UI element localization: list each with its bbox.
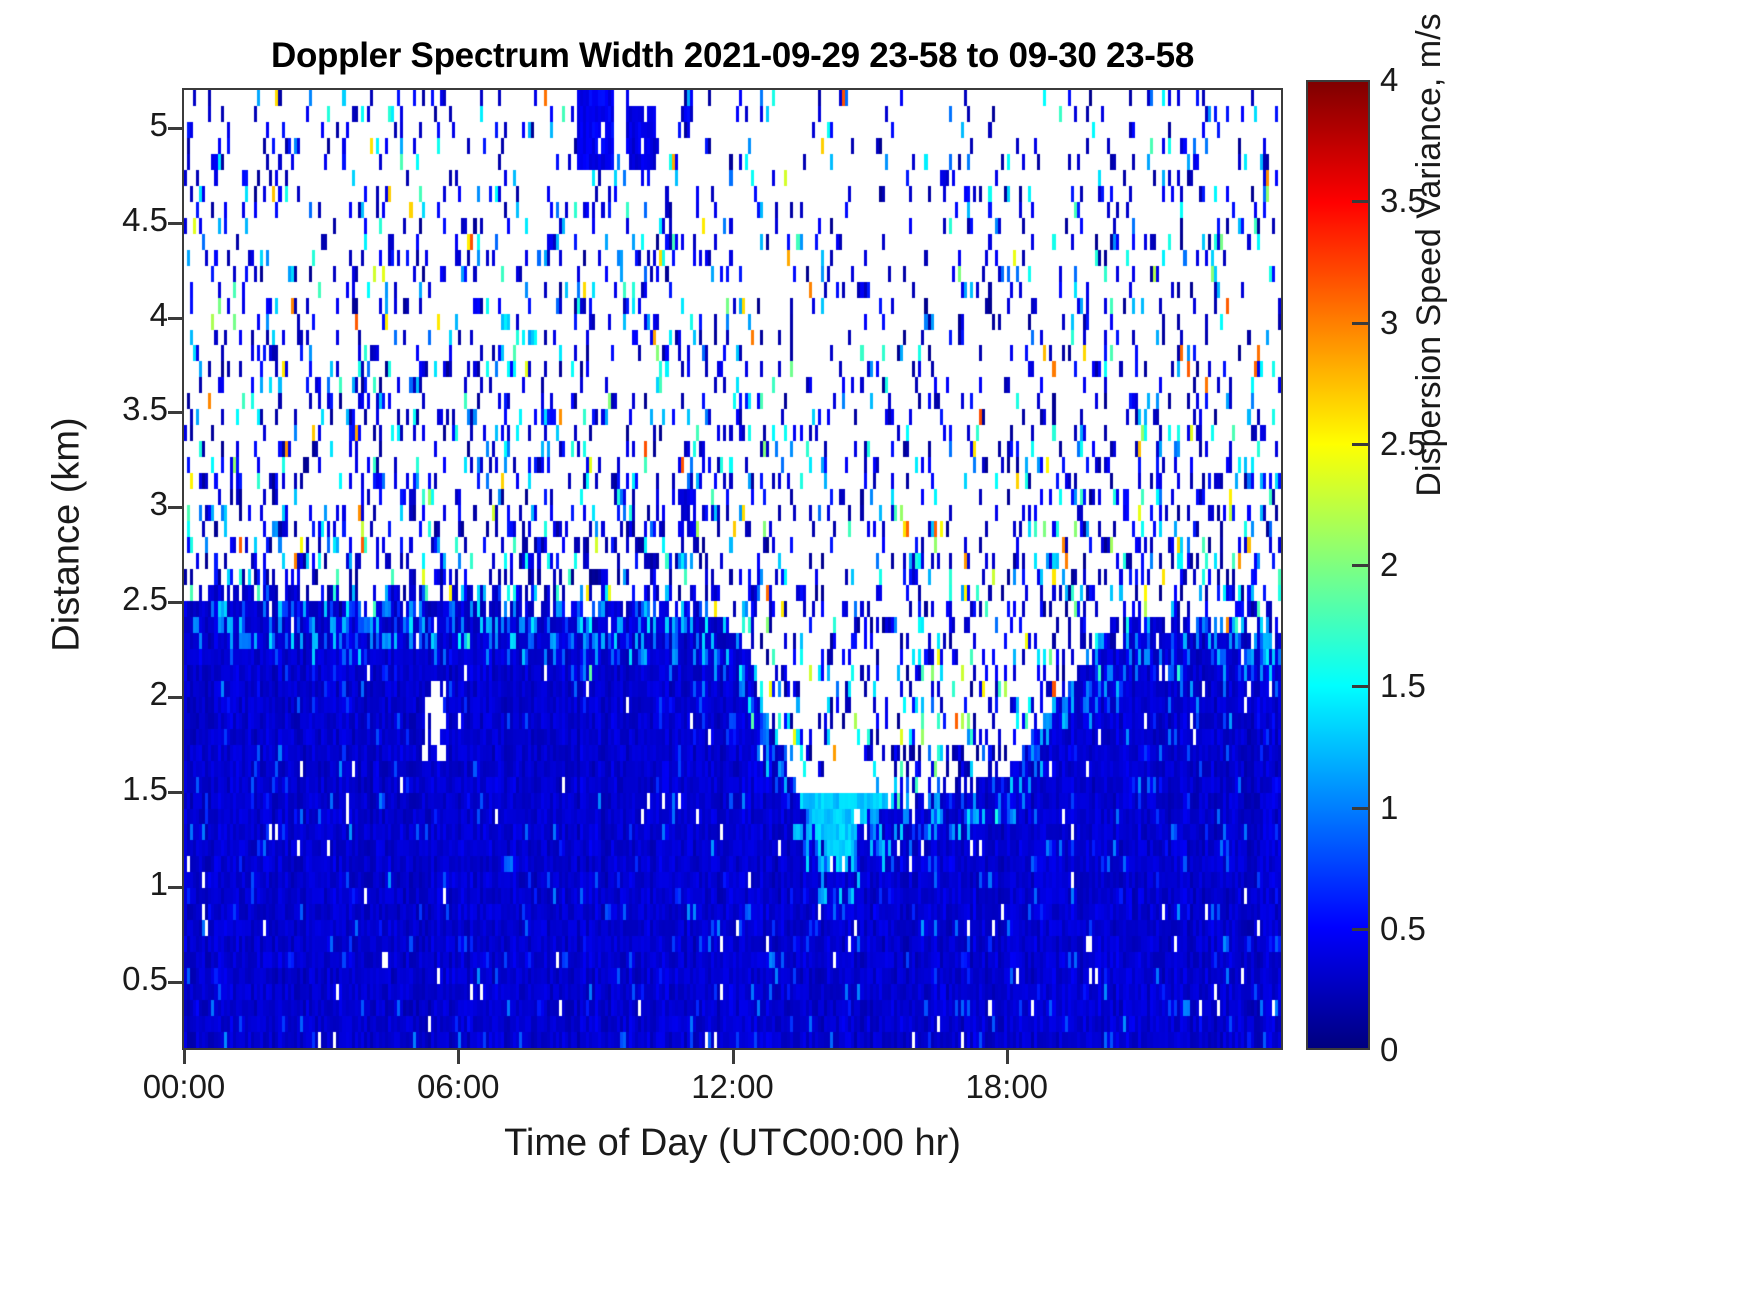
heatmap-plot-area[interactable] (182, 88, 1283, 1050)
colorbar-tick-mark (1352, 685, 1368, 688)
colorbar-title: Dispersion Speed Variance, m/s (1410, 0, 1449, 565)
x-tick-mark (1006, 1050, 1009, 1064)
y-tick-mark (168, 127, 182, 130)
y-tick-mark (168, 222, 182, 225)
y-tick-mark (168, 886, 182, 889)
y-tick-mark (168, 601, 182, 604)
y-tick-mark (168, 317, 182, 320)
doppler-spectrum-width-figure: Doppler Spectrum Width 2021-09-29 23-58 … (0, 0, 1750, 1313)
y-tick-label: 4.5 (122, 201, 168, 239)
colorbar-tick-mark (1352, 807, 1368, 810)
x-tick-label: 06:00 (417, 1068, 500, 1106)
colorbar-tick-label: 3 (1380, 304, 1398, 342)
colorbar-tick-label: 2 (1380, 546, 1398, 584)
y-tick-mark (168, 696, 182, 699)
colorbar-tick-label: 1.5 (1380, 667, 1426, 705)
colorbar-tick-mark (1352, 322, 1368, 325)
x-tick-label: 00:00 (143, 1068, 226, 1106)
x-axis-title: Time of Day (UTC00:00 hr) (182, 1122, 1283, 1165)
colorbar-tick-label: 4 (1380, 61, 1398, 99)
y-tick-label: 1.5 (122, 770, 168, 808)
colorbar-tick-label: 1 (1380, 789, 1398, 827)
y-tick-label: 3 (150, 485, 168, 523)
y-tick-label: 3.5 (122, 390, 168, 428)
colorbar-tick-label: 0.5 (1380, 910, 1426, 948)
x-tick-mark (732, 1050, 735, 1064)
x-tick-mark (183, 1050, 186, 1064)
y-tick-label: 1 (150, 865, 168, 903)
y-tick-label: 4 (150, 296, 168, 334)
colorbar-tick-mark (1352, 928, 1368, 931)
x-tick-label: 12:00 (691, 1068, 774, 1106)
colorbar-tick-mark (1352, 200, 1368, 203)
colorbar-tick-mark (1352, 564, 1368, 567)
y-tick-label: 0.5 (122, 960, 168, 998)
y-tick-mark (168, 791, 182, 794)
y-tick-label: 2.5 (122, 580, 168, 618)
colorbar-tick-label: 0 (1380, 1031, 1398, 1069)
y-tick-label: 5 (150, 106, 168, 144)
y-tick-mark (168, 981, 182, 984)
y-tick-mark (168, 411, 182, 414)
y-tick-mark (168, 506, 182, 509)
heatmap-canvas[interactable] (184, 90, 1281, 1048)
colorbar-tick-mark (1352, 443, 1368, 446)
x-tick-label: 18:00 (965, 1068, 1048, 1106)
x-tick-mark (457, 1050, 460, 1064)
y-axis-title: Distance (km) (46, 275, 89, 795)
y-tick-label: 2 (150, 675, 168, 713)
page-title: Doppler Spectrum Width 2021-09-29 23-58 … (182, 36, 1283, 76)
